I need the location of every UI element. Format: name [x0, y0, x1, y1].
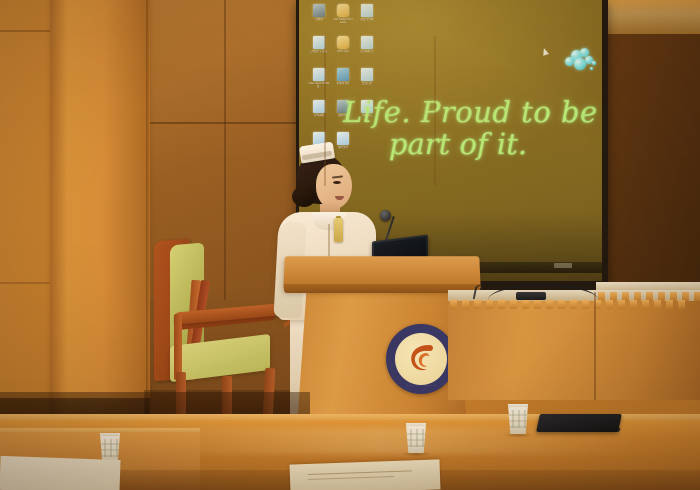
slide-text-line-1: Life. Proud to be: [343, 96, 599, 128]
desktop-icon[interactable]: 回收站: [307, 4, 331, 34]
photograph-scene: 回收站 SAP Gadget 2010 series 新建 文件夹 工作报告 汇…: [0, 0, 700, 490]
desktop-icon[interactable]: 新建 文件夹: [355, 4, 379, 34]
desktop-icon-label: 护理部 文件: [332, 82, 355, 85]
emblem-ring-text: · · · · · · · · ·: [386, 384, 456, 388]
institution-emblem: · · · · · · · · ·: [386, 324, 456, 394]
document-folder[interactable]: [536, 414, 622, 432]
wall-right-dark-panel: [600, 0, 700, 300]
emblem-swirl-icon: [405, 341, 437, 377]
recycle-bin-icon: [313, 4, 325, 17]
lectern-seam: [434, 36, 436, 186]
wall-pillar: [50, 0, 146, 437]
lectern-seam: [324, 36, 326, 186]
desktop-icon-label: SAP Gadget 2010 series: [332, 18, 355, 24]
desktop-icon[interactable]: 会议记录: [355, 68, 379, 98]
desktop-icon-label: SAP Logon: [332, 50, 355, 53]
application-icon: [337, 100, 349, 113]
desktop-icon-label: 回收站: [308, 18, 331, 21]
desktop-icon-label: 案例分析: [332, 114, 355, 117]
desk-device: [516, 292, 546, 300]
hair-bun: [292, 186, 316, 207]
desktop-icon[interactable]: 年终总结: [355, 100, 379, 130]
paper-sheet[interactable]: [0, 456, 121, 490]
desktop-icon[interactable]: 培训资料 包: [355, 36, 379, 66]
microphone-icon[interactable]: [380, 210, 391, 221]
desktop-icon[interactable]: Sales report 2011年度...: [307, 68, 331, 98]
desk-front-lower: [448, 300, 700, 400]
taskbar-tray[interactable]: [554, 263, 572, 268]
papers-on-table[interactable]: [290, 459, 441, 490]
document-icon: [361, 36, 373, 49]
paper-line: [308, 470, 412, 475]
desktop-icon[interactable]: SAP Logon: [331, 36, 355, 66]
desktop-icon[interactable]: 宣传资料: [307, 100, 331, 130]
desktop-icon-label: 新建 文件夹: [356, 18, 379, 21]
eye: [333, 181, 341, 184]
desktop-icon-label: 宣传资料: [308, 114, 331, 117]
desktop-icon-label: Sales report 2011年度...: [308, 82, 331, 88]
bubble-motif-icon: [565, 48, 599, 76]
desk-vertical-seam: [594, 292, 596, 400]
folder-icon: [337, 68, 349, 81]
id-badge: [334, 218, 343, 242]
armchair-arm-post: [174, 314, 182, 380]
face: [316, 164, 352, 209]
desktop-icon-label: 会议记录: [356, 82, 379, 85]
sap-gadget-icon: [337, 4, 349, 17]
desktop-icon[interactable]: 护理部 文件: [331, 68, 355, 98]
desktop-icon[interactable]: SAP Gadget 2010 series: [331, 4, 355, 34]
document-icon: [361, 68, 373, 81]
emblem-center: [395, 333, 447, 385]
desktop-icon[interactable]: 案例分析: [331, 100, 355, 130]
folder-icon: [361, 4, 373, 17]
desktop-icon[interactable]: 工作报告 汇总表...: [307, 36, 331, 66]
mouse-pointer-icon: [541, 47, 549, 56]
sap-logon-icon: [337, 36, 349, 49]
document-icon: [361, 100, 373, 113]
desktop-icon-label: 培训资料 包: [356, 50, 379, 53]
desktop-icon-label: 年终总结: [356, 114, 379, 117]
desktop-icon-label: 工作报告 汇总表...: [308, 50, 331, 53]
paper-line: [308, 476, 394, 480]
